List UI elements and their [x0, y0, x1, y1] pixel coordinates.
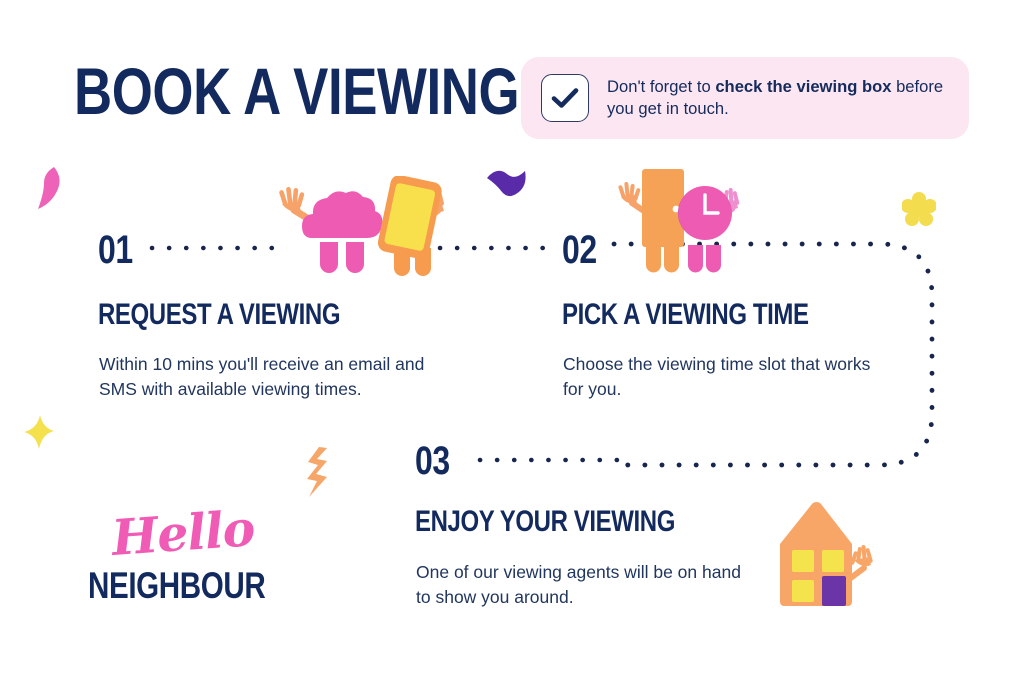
- callout-text: Don't forget to check the viewing box be…: [607, 76, 949, 120]
- yellow-star-icon: [22, 414, 56, 455]
- step-title-03: ENJOY YOUR VIEWING: [415, 507, 675, 537]
- logo-block-word: NEIGHBOUR: [88, 567, 265, 604]
- hello-neighbour-logo: Hello NEIGHBOUR: [88, 513, 283, 618]
- checkbox-checked-icon[interactable]: [541, 74, 589, 122]
- connector-step1-left: [150, 243, 290, 253]
- house-illustration: [766, 496, 886, 614]
- step-number-01: 01: [98, 230, 133, 270]
- blob-and-phone-illustration: [272, 176, 452, 284]
- step-title-02: PICK A VIEWING TIME: [562, 300, 809, 330]
- step-body-02: Choose the viewing time slot that works …: [563, 352, 893, 402]
- callout-text-lead: Don't forget to: [607, 77, 715, 96]
- yellow-flower-icon: [902, 192, 936, 231]
- pink-swoosh-icon: [30, 165, 64, 216]
- infographic-canvas: BOOK A VIEWING Don't forget to check the…: [0, 0, 1024, 683]
- page-title: BOOK A VIEWING: [74, 58, 519, 124]
- callout-banner: Don't forget to check the viewing box be…: [521, 57, 969, 139]
- step-title-01: REQUEST A VIEWING: [98, 300, 340, 330]
- connector-step3-left: [478, 455, 628, 465]
- step-number-03: 03: [415, 441, 450, 481]
- step-body-03: One of our viewing agents will be on han…: [416, 560, 756, 610]
- connector-step1-to-step2: [438, 243, 556, 253]
- door-and-clock-illustration: [616, 163, 744, 278]
- step-body-01: Within 10 mins you'll receive an email a…: [99, 352, 429, 402]
- orange-bolt-icon: [303, 446, 331, 503]
- step-number-02: 02: [562, 230, 597, 270]
- logo-script-word: Hello: [110, 499, 256, 567]
- callout-text-emphasis: check the viewing box: [715, 77, 891, 96]
- purple-wave-icon: [484, 166, 528, 207]
